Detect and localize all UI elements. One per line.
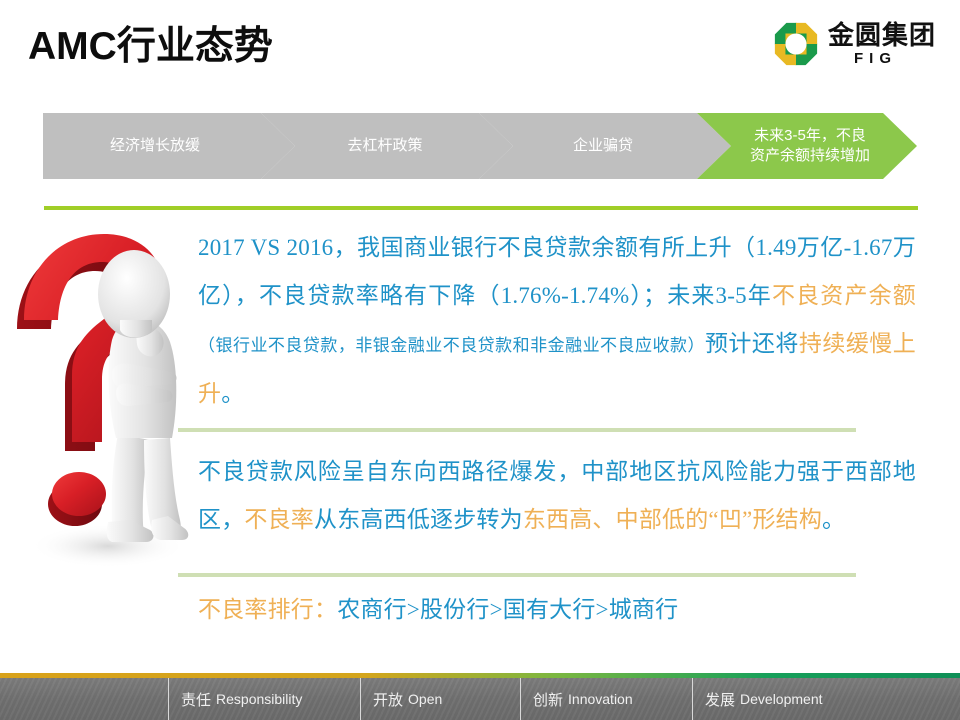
footer-item-innovation-en: Innovation	[568, 691, 633, 707]
footer-item-innovation: 创新 Innovation	[520, 678, 692, 720]
p1-run-5: 预计还将	[705, 331, 799, 356]
pinwheel-logo-icon	[772, 20, 820, 68]
process-chevron-bar: 经济增长放缓 去杠杆政策 企业骗贷 未来3-5年，不良 资产余额持续增加	[43, 113, 917, 179]
logo-name-cn: 金圆集团	[828, 22, 936, 48]
paragraph-2: 不良贷款风险呈自东向西路径爆发，中部地区抗风险能力强于西部地区，不良率从东高西低…	[198, 448, 916, 544]
footer-item-responsibility: 责任 Responsibility	[168, 678, 360, 720]
process-step-1[interactable]: 经济增长放缓	[43, 113, 295, 179]
p2-run-4: 东西高、中部低的“凹”形结构	[523, 507, 822, 532]
footer-item-responsibility-cn: 责任	[181, 689, 211, 710]
process-step-1-label: 经济增长放缓	[110, 136, 200, 156]
paragraph-divider-1	[178, 428, 856, 432]
footer-item-innovation-cn: 创新	[533, 689, 563, 710]
process-step-2[interactable]: 去杠杆政策	[261, 113, 513, 179]
paragraph-3: 不良率排行：农商行>股份行>国有大行>城商行	[198, 586, 916, 634]
paragraph-2-text: 不良贷款风险呈自东向西路径爆发，中部地区抗风险能力强于西部地区，不良率从东高西低…	[198, 448, 916, 544]
footer-item-development: 发展 Development	[692, 678, 892, 720]
footer-item-development-en: Development	[740, 691, 823, 707]
p1-run-7: 。	[221, 381, 244, 406]
p2-run-3: 从东高西低逐步转为	[314, 507, 523, 532]
p1-run-3: 不良资产余额	[772, 283, 916, 308]
question-mark-thinker-illustration	[12, 216, 190, 610]
top-divider-rule	[44, 206, 918, 210]
paragraph-divider-2	[178, 573, 856, 577]
company-logo: 金圆集团 FIG	[772, 20, 936, 68]
process-step-3[interactable]: 企业骗贷	[479, 113, 731, 179]
paragraph-1: 2017 VS 2016，我国商业银行不良贷款余额有所上升（1.49万亿-1.6…	[198, 224, 916, 418]
footer-value-list: 责任 Responsibility 开放 Open 创新 Innovation …	[168, 678, 892, 720]
p3-run-2: 农商行>股份行>国有大行>城商行	[337, 597, 678, 622]
paragraph-1-text: 2017 VS 2016，我国商业银行不良贷款余额有所上升（1.49万亿-1.6…	[198, 224, 916, 418]
p1-run-4: （银行业不良贷款，非银金融业不良贷款和非金融业不良应收款）	[198, 336, 705, 355]
p3-run-1: 不良率排行：	[198, 597, 337, 622]
footer-item-open-cn: 开放	[373, 689, 403, 710]
process-step-3-label: 企业骗贷	[573, 136, 633, 156]
logo-wordmark: 金圆集团 FIG	[828, 22, 936, 66]
paragraph-3-text: 不良率排行：农商行>股份行>国有大行>城商行	[198, 586, 916, 634]
process-step-2-label: 去杠杆政策	[347, 136, 422, 156]
p2-run-5: 。	[822, 507, 845, 532]
footer-item-open: 开放 Open	[360, 678, 520, 720]
footer-item-development-cn: 发展	[705, 689, 735, 710]
footer-item-open-en: Open	[408, 691, 442, 707]
slide-root: AMC行业态势 金圆集团 FIG 经济增长放缓	[0, 0, 960, 720]
footer-item-responsibility-en: Responsibility	[216, 691, 302, 707]
page-title: AMC行业态势	[28, 26, 273, 69]
p1-run-2: 未来3-5年	[666, 283, 772, 308]
p2-run-2: 不良率	[244, 507, 314, 532]
logo-name-en: FIG	[854, 51, 897, 66]
process-step-4-label: 未来3-5年，不良 资产余额持续增加	[750, 126, 870, 167]
